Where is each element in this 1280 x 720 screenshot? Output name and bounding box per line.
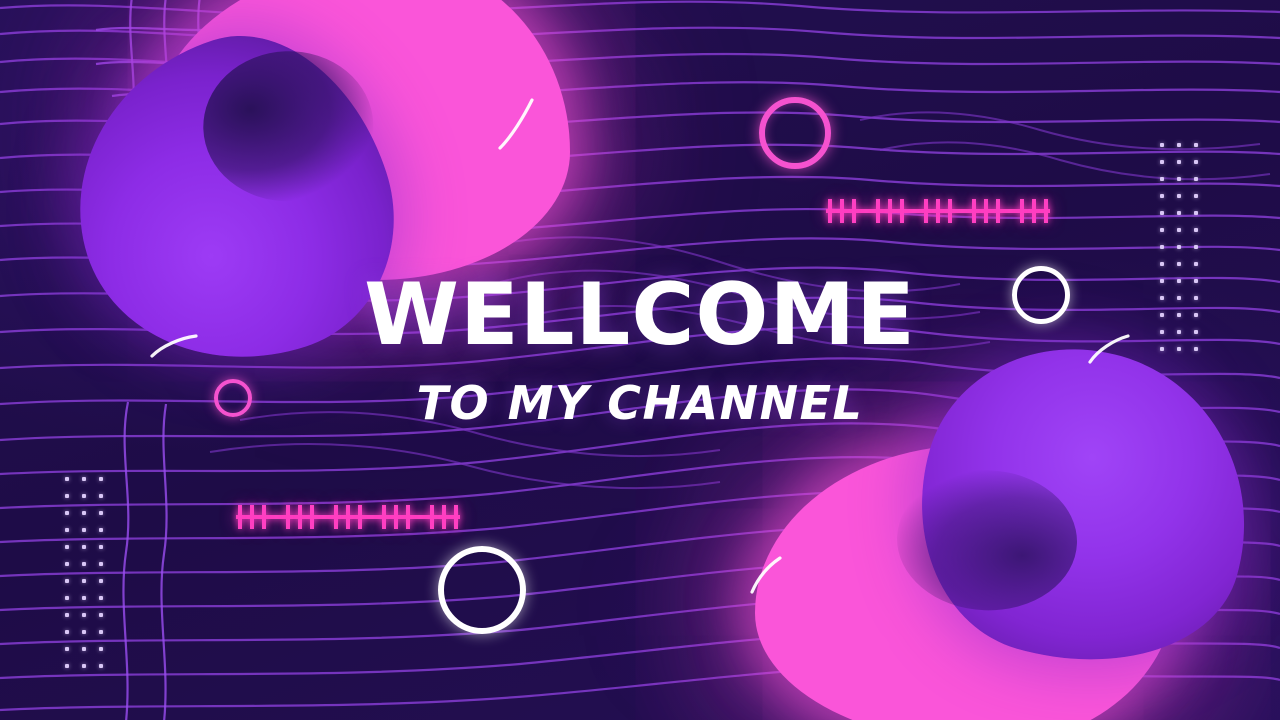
grid-dot	[99, 613, 103, 617]
poster-canvas: .c { fill:none; stroke:#8b3fd9; stroke-w…	[0, 0, 1280, 720]
grid-dot	[99, 562, 103, 566]
grid-dot	[65, 579, 69, 583]
tally-tick	[346, 505, 350, 529]
grid-dot	[82, 511, 86, 515]
grid-dot	[1177, 177, 1181, 181]
tally-tick	[852, 199, 856, 223]
grid-dot	[99, 545, 103, 549]
tally-tick	[1044, 199, 1048, 223]
grid-dot	[82, 477, 86, 481]
tally-tick	[250, 505, 254, 529]
grid-dot	[65, 664, 69, 668]
tally-tick	[888, 199, 892, 223]
grid-dot	[1194, 262, 1198, 266]
tally-tick	[900, 199, 904, 223]
grid-dot	[99, 664, 103, 668]
grid-dot	[1194, 211, 1198, 215]
tally-tick	[430, 505, 434, 529]
tally-tick	[358, 505, 362, 529]
tally-bottom-left	[236, 500, 460, 534]
grid-dot	[1194, 143, 1198, 147]
tally-tick	[1020, 199, 1024, 223]
subheadline-text: TO MY CHANNEL	[0, 380, 1280, 426]
grid-dot	[99, 596, 103, 600]
grid-dot	[82, 494, 86, 498]
grid-dot	[1160, 211, 1164, 215]
grid-dot	[1177, 160, 1181, 164]
grid-dot	[82, 647, 86, 651]
grid-dot	[82, 545, 86, 549]
grid-dot	[65, 630, 69, 634]
tally-tick	[394, 505, 398, 529]
tally-tick	[442, 505, 446, 529]
grid-dot	[99, 494, 103, 498]
grid-dot	[1160, 143, 1164, 147]
tally-tick	[840, 199, 844, 223]
tally-tick	[406, 505, 410, 529]
grid-dot	[82, 562, 86, 566]
grid-dot	[99, 579, 103, 583]
text-block: WELLCOME TO MY CHANNEL	[0, 272, 1280, 426]
grid-dot	[1194, 177, 1198, 181]
grid-dot	[82, 630, 86, 634]
tally-tick	[334, 505, 338, 529]
grid-dot	[65, 647, 69, 651]
grid-dot	[1177, 245, 1181, 249]
tally-tick	[984, 199, 988, 223]
tally-tick	[454, 505, 458, 529]
grid-dot	[1160, 262, 1164, 266]
grid-dot	[65, 477, 69, 481]
tally-tick	[286, 505, 290, 529]
grid-dot	[82, 613, 86, 617]
tally-tick	[382, 505, 386, 529]
grid-dot	[65, 511, 69, 515]
grid-dot	[65, 545, 69, 549]
white-ring-large	[438, 546, 526, 634]
grid-dot	[1160, 194, 1164, 198]
pink-ring-large	[759, 97, 831, 169]
grid-dot	[1160, 177, 1164, 181]
grid-dot	[1177, 262, 1181, 266]
grid-dot	[1194, 194, 1198, 198]
tally-tick	[996, 199, 1000, 223]
tally-tick	[924, 199, 928, 223]
grid-dot	[99, 511, 103, 515]
tally-tick	[310, 505, 314, 529]
tally-tick	[828, 199, 832, 223]
grid-dot	[65, 562, 69, 566]
grid-dot	[82, 664, 86, 668]
grid-dot	[65, 596, 69, 600]
tally-tick	[876, 199, 880, 223]
grid-dot	[1177, 228, 1181, 232]
grid-dot	[65, 613, 69, 617]
tally-tick	[238, 505, 242, 529]
grid-dot	[82, 528, 86, 532]
grid-dot	[99, 647, 103, 651]
tally-tick	[972, 199, 976, 223]
grid-dot	[99, 528, 103, 532]
grid-dot	[1160, 245, 1164, 249]
tally-tick	[936, 199, 940, 223]
grid-dot	[1194, 160, 1198, 164]
grid-dot	[1177, 211, 1181, 215]
grid-dot	[65, 494, 69, 498]
grid-dot	[82, 579, 86, 583]
tally-top-right	[826, 194, 1050, 228]
grid-dot	[1177, 143, 1181, 147]
tally-tick	[1032, 199, 1036, 223]
headline-text: WELLCOME	[0, 272, 1280, 358]
grid-dot	[1194, 228, 1198, 232]
grid-dot	[1160, 160, 1164, 164]
grid-dot	[1194, 245, 1198, 249]
grid-dot	[99, 630, 103, 634]
tally-tick	[948, 199, 952, 223]
tally-tick	[262, 505, 266, 529]
grid-dot	[1160, 228, 1164, 232]
grid-dot	[82, 596, 86, 600]
grid-dot	[65, 528, 69, 532]
tally-tick	[298, 505, 302, 529]
grid-dot	[99, 477, 103, 481]
dot-grid-left	[65, 477, 116, 681]
grid-dot	[1177, 194, 1181, 198]
